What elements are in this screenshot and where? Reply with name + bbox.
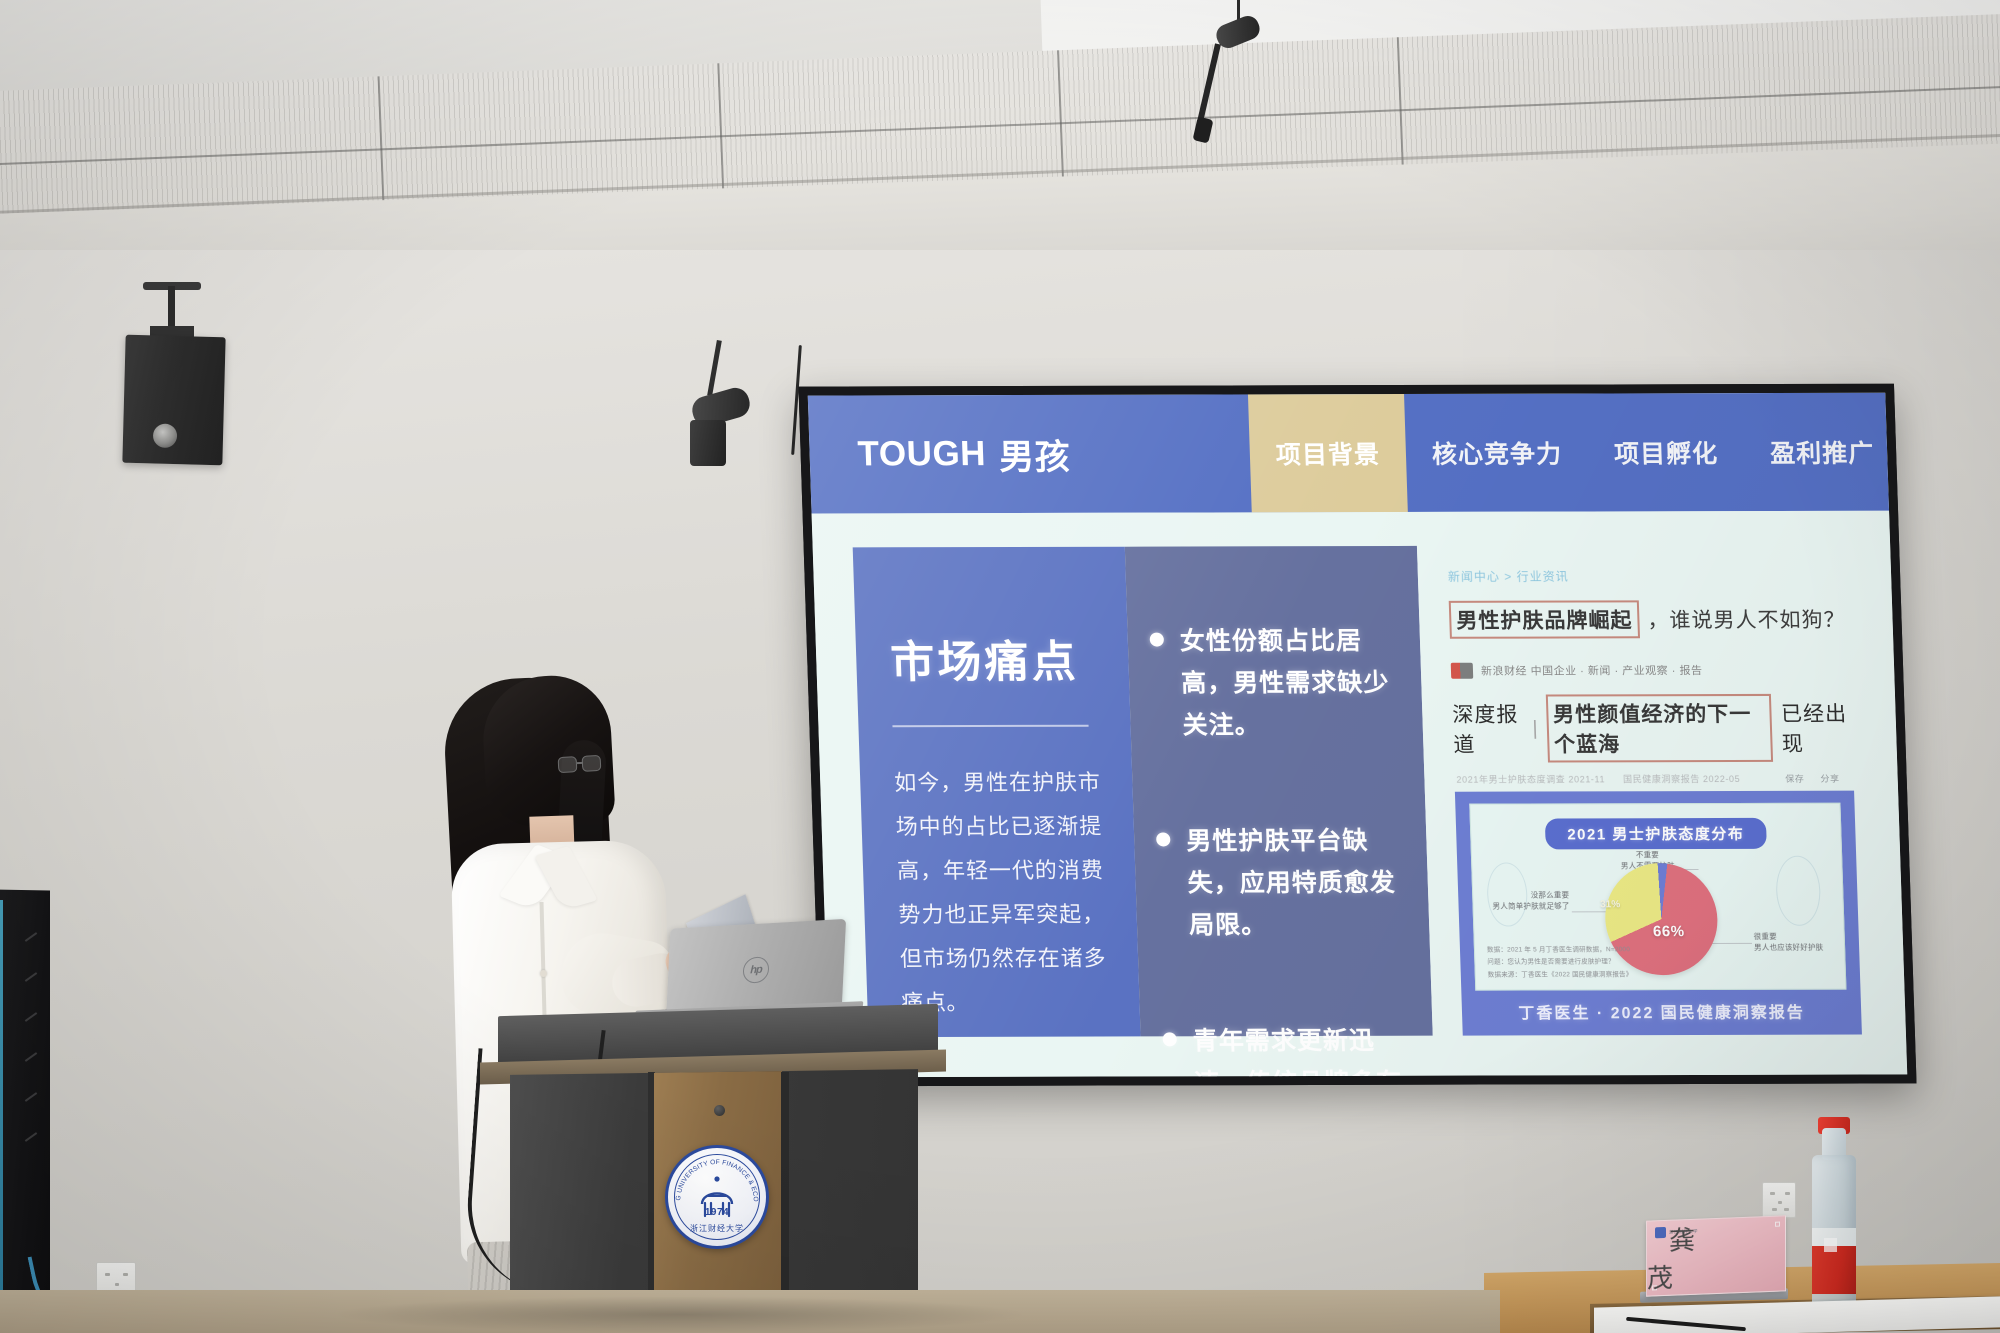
name-card: 浙江财经大学 龚 茂 [1646,1215,1786,1296]
hp-logo-icon: hp [742,956,769,984]
bullet-text: 青年需求更新迅速，传统品牌多有不足。 [1192,1020,1410,1077]
speaker-cone-icon [153,423,178,448]
nav-tab-core-competitiveness[interactable]: 核心竞争力 [1404,394,1590,512]
nav-tab-project-incubation[interactable]: 项目孵化 [1586,393,1746,511]
floor-shadow [330,1296,1030,1333]
headline2-highlight-box: 男性颜值经济的下一个蓝海 [1546,694,1774,763]
headline-rest: ，谁说男人不如狗？ [1647,604,1846,635]
slide-body: 市场痛点 如今，男性在护肤市场中的占比已逐渐提高，年轻一代的消费势力也正异军突起… [812,511,1908,1078]
chart-container: 2021 男士护肤态度分布 不重要男人不需要护肤 没那么重要男人简单护肤就足够了… [1469,803,1846,991]
headline-highlight-box: 男性护肤品牌崛起 [1449,600,1640,638]
glasses-lens-left [558,756,578,773]
bullet-dot-icon [1156,832,1170,846]
slide-left-panel: 市场痛点 如今，男性在护肤市场中的占比已逐渐提高，年轻一代的消费势力也正异军突起… [853,547,1141,1037]
university-emblem: ZHEJIANG UNIVERSITY OF FINANCE & ECONOMI… [665,1145,769,1249]
left-panel-ticks [24,930,42,1190]
card-meta-2: 国民健康洞察报告 2022-05 [1623,772,1741,785]
slide-evidence-panel: 新闻中心 > 行业资讯 男性护肤品牌崛起 ，谁说男人不如狗？ 新浪财经 中国企业… [1417,545,1866,1036]
pie-label-very-important: 很重要男人也应该好好护肤 [1754,931,1841,954]
blouse-button [540,970,547,977]
left-panel-light-strip [0,900,3,1333]
news-source-logo-icon [1451,663,1474,679]
headline2-label: 深度报道 [1452,699,1525,759]
bullet-item: 青年需求更新迅速，传统品牌多有不足。 [1162,1020,1410,1077]
bullet-text: 女性份额占比居高，男性需求缺少关注。 [1179,620,1397,746]
breadcrumb: 新闻中心 > 行业资讯 [1448,567,1848,585]
pie-label-not-so-important: 没那么重要男人简单护肤就足够了 [1479,889,1570,912]
news-source-text: 新浪财经 中国企业 · 新闻 · 产业观察 · 报告 [1481,662,1703,679]
lecture-hall-scene: TOUGH 男孩 项目背景 核心竞争力 项目孵化 盈利推广 市场痛点 如今，男性… [0,0,2000,1333]
brand-en: TOUGH [857,434,987,474]
chart-card-caption: 丁香医生 · 2022 国民健康洞察报告 [1475,990,1847,1026]
card-toolbar: 2021年男士护肤态度调查 2021-11 国民健康洞察报告 2022-05 保… [1454,772,1854,792]
bullet-item: 男性护肤平台缺失，应用特质愈发局限。 [1156,820,1404,947]
chart-title: 2021 男士护肤态度分布 [1545,818,1767,850]
chart-footnote: 问题：您认为男性是否需要进行皮肤护理？ [1487,956,1632,969]
bullet-item: 女性份额占比居高，男性需求缺少关注。 [1149,620,1397,747]
slide-bullets-panel: 女性份额占比居高，男性需求缺少关注。 男性护肤平台缺失，应用特质愈发局限。 青年… [1125,546,1433,1037]
slide-section-title: 市场痛点 [890,639,1098,688]
bottle-label [1812,1246,1856,1294]
pie-value-label-primary: 66% [1653,923,1685,940]
bullet-dot-icon [1162,1032,1176,1046]
wall-outlet-right[interactable] [1762,1182,1796,1218]
news-headline-2: 深度报道 | 男性颜值经济的下一个蓝海 已经出现 [1452,694,1853,763]
bottle-label-mark [1824,1238,1837,1252]
news-headline-1: 男性护肤品牌崛起 ，谁说男人不如狗？ [1449,600,1849,639]
emblem-name-cn: 浙江财经大学 [668,1223,766,1234]
name-card-name: 龚 茂 [1647,1216,1785,1295]
glasses-icon [558,755,603,774]
share-icon[interactable]: 分享 [1820,772,1840,785]
slide-header: TOUGH 男孩 项目背景 核心竞争力 项目孵化 盈利推广 [808,393,1889,514]
ceiling-speaker-icon [122,335,225,466]
presentation-slide: TOUGH 男孩 项目背景 核心竞争力 项目孵化 盈利推广 市场痛点 如今，男性… [808,393,1907,1077]
title-divider [892,725,1088,728]
bullet-dot-icon [1150,633,1164,647]
slide-nav: 项目背景 核心竞争力 项目孵化 盈利推广 [1248,393,1902,513]
news-source-line: 新浪财经 中国企业 · 新闻 · 产业观察 · 报告 [1451,662,1851,679]
bullet-text: 男性护肤平台缺失，应用特质愈发局限。 [1186,820,1404,946]
lectern-screw-icon [714,1105,725,1116]
emblem-year: 1974 [668,1207,766,1218]
chart-footnote: 数据来源：丁香医生《2022 国民健康洞察报告》 [1488,969,1633,982]
pie-value-label-secondary: 31% [1600,899,1620,910]
glasses-lens-right [582,755,602,772]
pie-leader-line [1706,943,1752,944]
save-icon[interactable]: 保存 [1785,772,1805,785]
slide-intro-paragraph: 如今，男性在护肤市场中的占比已逐渐提高，年轻一代的消费势力也正异军突起，但市场仍… [894,761,1109,1025]
pie-chart-area: 不重要男人不需要护肤 没那么重要男人简单护肤就足够了 很重要男人也应该好好护肤 … [1472,849,1844,945]
speaker-mount-rod [168,286,175,328]
nav-tab-project-background[interactable]: 项目背景 [1248,394,1408,512]
nav-tab-profit-promotion[interactable]: 盈利推广 [1742,393,1902,511]
projection-screen: TOUGH 男孩 项目背景 核心竞争力 项目孵化 盈利推广 市场痛点 如今，男性… [798,384,1916,1087]
chart-card: 2021 男士护肤态度分布 不重要男人不需要护肤 没那么重要男人简单护肤就足够了… [1455,791,1862,1036]
headline2-separator: | [1532,717,1538,740]
slide-brand: TOUGH 男孩 [808,394,1252,513]
chart-footnotes: 数据：2021 年 5 月丁香医生调研数据，N=2000 问题：您认为男性是否需… [1475,944,1633,989]
card-toolbar-right: 保存 分享 [1785,772,1840,785]
wall-microphone-body [690,420,726,466]
headline2-rest: 已经出现 [1780,698,1853,758]
card-toolbar-left: 2021年男士护肤态度调查 2021-11 国民健康洞察报告 2022-05 [1456,772,1740,786]
card-meta-1: 2021年男士护肤态度调查 2021-11 [1456,772,1605,785]
brand-cn: 男孩 [998,428,1071,479]
chart-footnote: 数据：2021 年 5 月丁香医生调研数据，N=2000 [1487,944,1632,957]
